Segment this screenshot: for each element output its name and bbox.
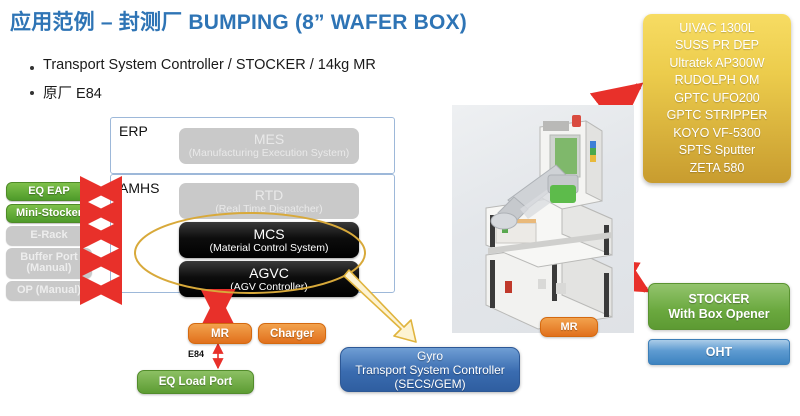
oht-box: OHT [648, 339, 790, 365]
equipment-item: SPTS Sputter [679, 142, 755, 160]
amhs-panel-label: AMHS [119, 180, 159, 196]
bullet-text: 原厂 E84 [43, 82, 102, 103]
equipment-photo-render [452, 105, 634, 333]
layer-full-name: (Real Time Dispatcher) [215, 203, 322, 215]
bullet-text: Transport System Controller / STOCKER / … [43, 57, 376, 73]
left-item-op-manual: OP (Manual) [6, 281, 92, 300]
stocker-with-box-opener-box: STOCKER With Box Opener [648, 283, 790, 330]
equipment-list-box: UIVAC 1300L SUSS PR DEP Ultratek AP300W … [643, 14, 791, 183]
layer-box-rtd: RTD (Real Time Dispatcher) [179, 183, 359, 219]
equipment-item: UIVAC 1300L [679, 20, 755, 38]
layer-full-name: (AGV Controller) [230, 281, 308, 293]
layer-abbr: AGVC [249, 265, 289, 281]
bullet-marker-icon [30, 66, 34, 70]
layer-abbr: MCS [253, 226, 284, 242]
layer-box-agvc: AGVC (AGV Controller) [179, 261, 359, 297]
bullet-item-2: 原厂 E84 [30, 82, 102, 103]
layer-box-mcs: MCS (Material Control System) [179, 222, 359, 258]
eq-load-port-box: EQ Load Port [137, 370, 254, 394]
equipment-item: Ultratek AP300W [669, 55, 764, 73]
layer-box-mes: MES (Manufacturing Execution System) [179, 128, 359, 164]
equipment-item: RUDOLPH OM [675, 72, 760, 90]
mr-box: MR [188, 323, 252, 344]
erp-panel: ERP MES (Manufacturing Execution System) [110, 117, 395, 174]
equipment-item: GPTC UFO200 [674, 90, 759, 108]
left-item-buffer-port: Buffer Port (Manual) [6, 248, 92, 278]
gyro-transport-system-controller-box: Gyro Transport System Controller (SECS/G… [340, 347, 520, 392]
amhs-panel: AMHS RTD (Real Time Dispatcher) MCS (Mat… [110, 174, 395, 293]
equipment-item: ZETA 580 [690, 160, 745, 178]
equipment-photo [452, 105, 634, 333]
e84-link-label: E84 [188, 349, 204, 359]
equipment-item: SUSS PR DEP [675, 37, 759, 55]
equipment-item: GPTC STRIPPER [667, 107, 768, 125]
charger-box: Charger [258, 323, 326, 344]
layer-abbr: MES [254, 132, 284, 147]
left-item-eq-eap: EQ EAP [6, 182, 92, 201]
page-title: 应用范例 – 封测厂 BUMPING (8” WAFER BOX) [10, 6, 610, 36]
bullet-marker-icon [30, 91, 34, 95]
photo-mr-label: MR [540, 317, 598, 337]
layer-full-name: (Manufacturing Execution System) [189, 147, 349, 159]
layer-abbr: RTD [255, 188, 284, 203]
layer-full-name: (Material Control System) [209, 242, 328, 254]
left-item-e-rack: E-Rack [6, 226, 92, 245]
equipment-item: KOYO VF-5300 [673, 125, 761, 143]
left-item-mini-stocker: Mini-Stocker [6, 204, 92, 223]
bullet-item-1: Transport System Controller / STOCKER / … [30, 57, 376, 73]
erp-panel-label: ERP [119, 123, 148, 139]
